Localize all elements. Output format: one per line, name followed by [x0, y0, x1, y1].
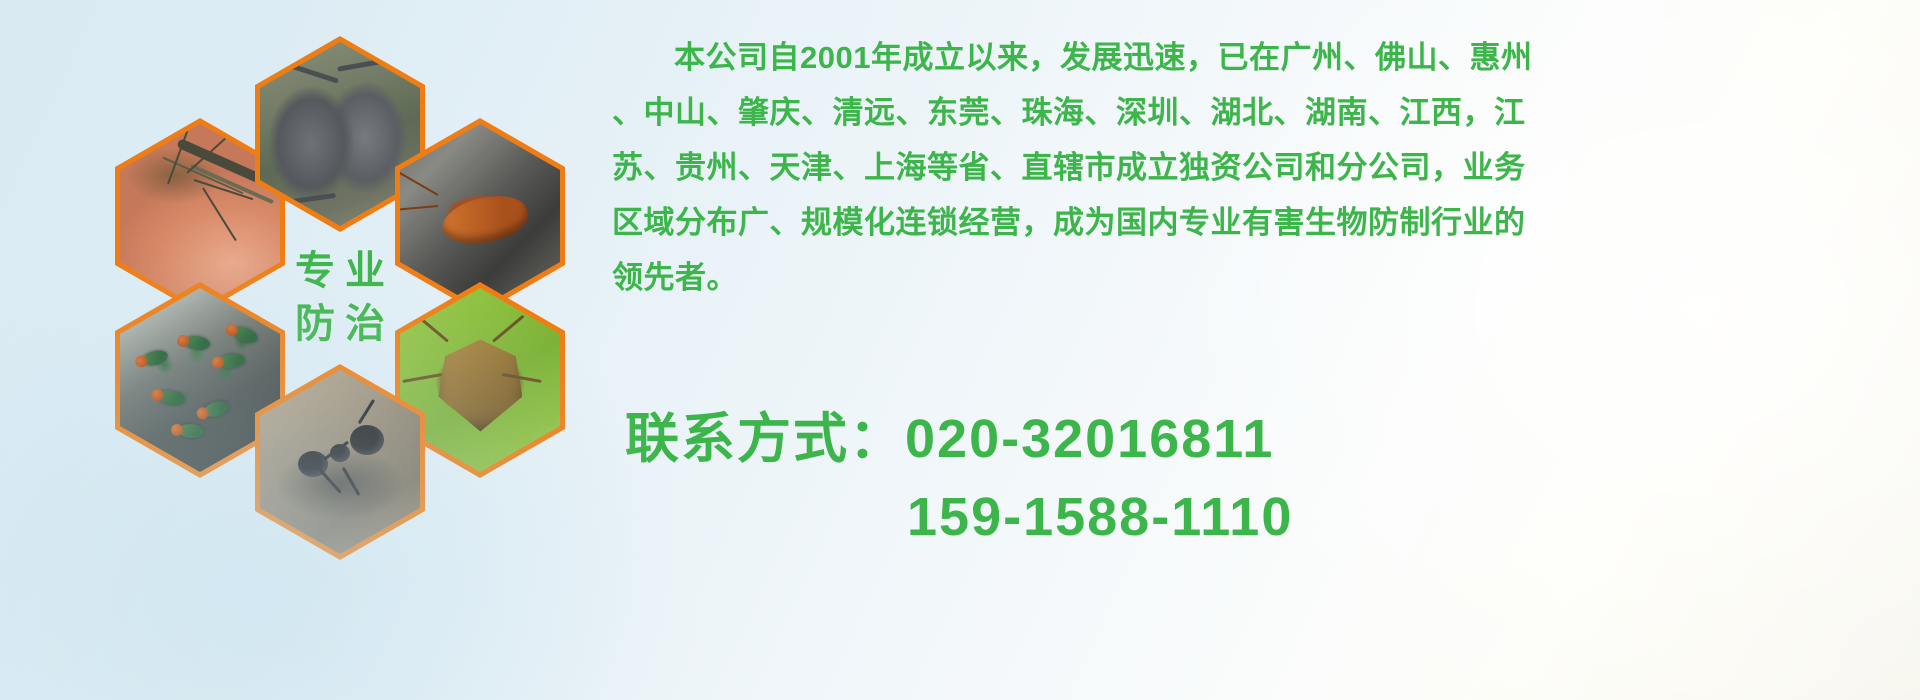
- paragraph-line-5: 领先者。: [612, 250, 1902, 305]
- paragraph-line-2: 、中山、肇庆、清远、东莞、珠海、深圳、湖北、湖南、江西，江: [612, 85, 1902, 140]
- company-intro-paragraph: 本公司自2001年成立以来，发展迅速，已在广州、佛山、惠州 、中山、肇庆、清远、…: [612, 30, 1902, 305]
- hex-badge-line2: 防治: [285, 303, 395, 346]
- contact-phone-2[interactable]: 159-1588-1110: [625, 478, 1293, 556]
- paragraph-body: 本公司自2001年成立以来，发展迅速，已在广州、佛山、惠州 、中山、肇庆、清远、…: [612, 30, 1902, 305]
- contact-phone-1[interactable]: 020-32016811: [905, 409, 1274, 469]
- pest-control-banner: 专业 防治 本公司自2001年成立以来，发展迅速，已在广州、佛山、惠州 、中山、…: [0, 0, 1920, 700]
- paragraph-line-1: 本公司自2001年成立以来，发展迅速，已在广州、佛山、惠州: [612, 30, 1902, 85]
- paragraph-line-4: 区域分布广、规模化连锁经营，成为国内专业有害生物防制行业的: [612, 195, 1902, 250]
- paragraph-line-3: 苏、贵州、天津、上海等省、直辖市成立独资公司和分公司，业务: [612, 140, 1902, 195]
- hexagon-photo-cluster: 专业 防治: [95, 10, 595, 570]
- ant-icon: [260, 370, 420, 554]
- hex-badge-line1: 专业: [285, 250, 395, 293]
- contact-block: 联系方式：020-32016811 159-1588-1110: [625, 400, 1293, 556]
- contact-label: 联系方式：: [625, 409, 905, 469]
- contact-line-primary: 联系方式：020-32016811: [625, 400, 1293, 478]
